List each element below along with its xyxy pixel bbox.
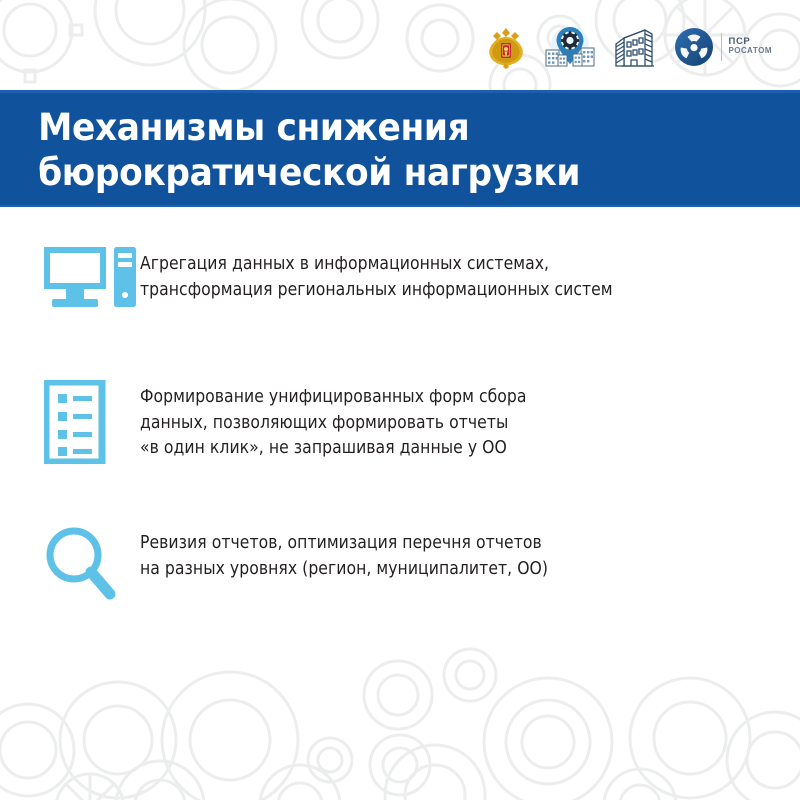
mechanism-list: Агрегация данных в информационных систем… [0, 207, 800, 600]
list-item-text: Агрегация данных в информационных систем… [140, 245, 734, 303]
psr-rosatom-logo: ПСР РОСАТОМ [674, 27, 772, 67]
psr-logo-line2: РОСАТОМ [729, 47, 772, 56]
gear-pattern-bottom [0, 620, 800, 800]
magnifier-icon [44, 524, 140, 600]
list-item: Формирование унифицированных форм сбора … [0, 378, 800, 464]
list-item-text: Формирование унифицированных форм сбора … [140, 378, 734, 462]
logo-strip: ПСР РОСАТОМ [0, 0, 800, 93]
list-item: Ревизия отчетов, оптимизация перечня отч… [0, 524, 800, 600]
institution-building-emblem-icon [612, 21, 658, 73]
infographic-slide: ПСР РОСАТОМ Механизмы снижения бюрократи… [0, 0, 800, 800]
psr-divider [721, 33, 722, 61]
form-checklist-icon [44, 378, 140, 464]
list-item: Агрегация данных в информационных систем… [0, 245, 800, 311]
region-development-emblem-icon [544, 21, 596, 73]
russian-federation-emblem-icon [484, 21, 528, 73]
page-title: Механизмы снижения бюрократической нагру… [0, 105, 580, 196]
banner-bottom-rule [0, 205, 800, 207]
list-item-text: Ревизия отчетов, оптимизация перечня отч… [140, 524, 734, 582]
desktop-computer-icon [44, 245, 140, 311]
title-banner: Механизмы снижения бюрократической нагру… [0, 93, 800, 207]
rosatom-atom-icon [674, 27, 714, 67]
